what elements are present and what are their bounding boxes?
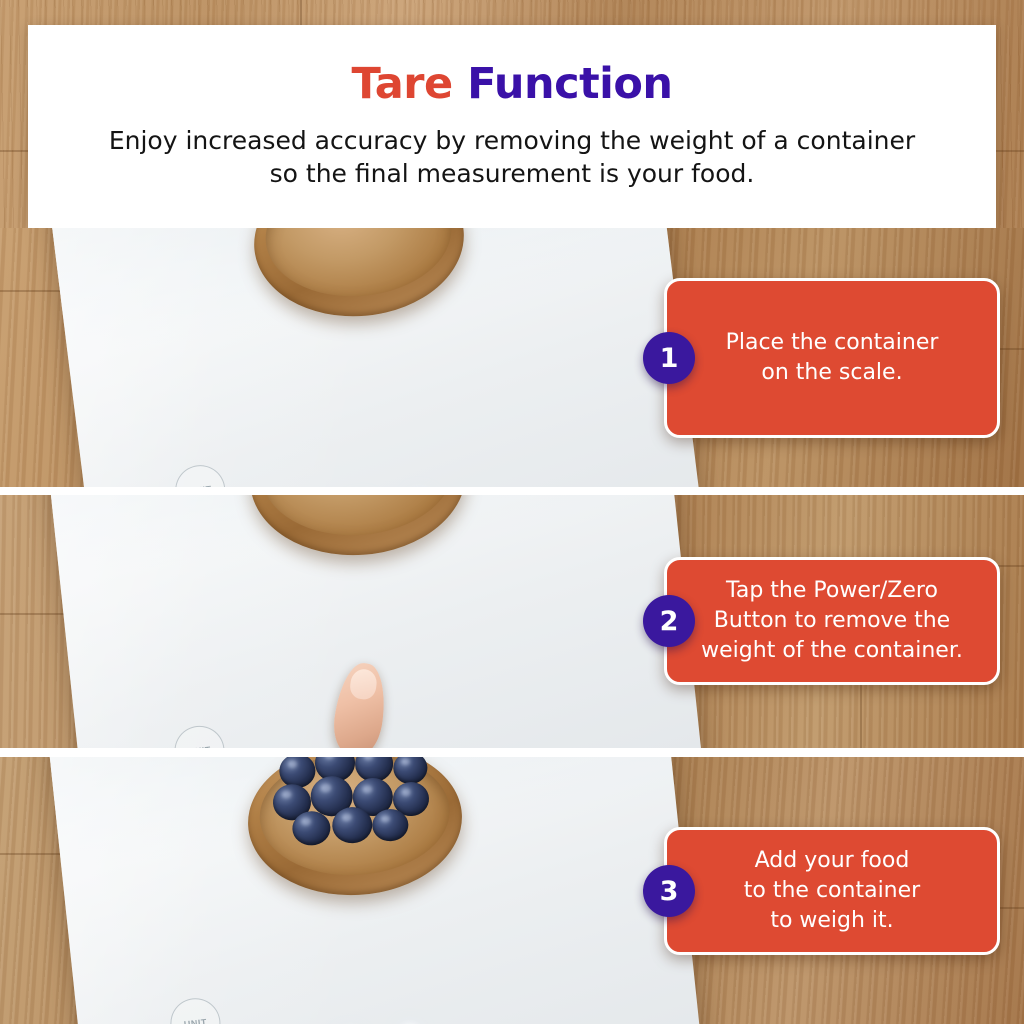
step-panel-3: UNIT 9.0 Max 10kg 0-1g ⏻ ZERO HOLD Add y… — [0, 757, 1024, 1024]
step-2-badge: 2 — [643, 595, 695, 647]
header-card: Tare Function Enjoy increased accuracy b… — [28, 25, 996, 228]
step-3-line-2: to the container — [744, 876, 920, 906]
step-1-line-1: Place the container — [726, 328, 939, 358]
step-2-line-3: weight of the container. — [701, 636, 963, 666]
step-1-badge: 1 — [643, 332, 695, 384]
page-title: Tare Function — [351, 59, 672, 109]
step-2-callout: Tap the Power/Zero Button to remove the … — [664, 557, 1000, 685]
step-panel-2: UNIT .0 Max 10kg 0-1g HOLD Tap the Power… — [0, 495, 1024, 748]
header-subtitle: Enjoy increased accuracy by removing the… — [109, 125, 915, 190]
header-subtitle-line-2: so the final measurement is your food. — [109, 158, 915, 191]
step-2-line-2: Button to remove the — [701, 606, 963, 636]
step-1-text: Place the container on the scale. — [700, 328, 965, 388]
step-3-text: Add your food to the container to weigh … — [718, 846, 946, 936]
step-3-line-1: Add your food — [744, 846, 920, 876]
unit-button-label-3: UNIT — [183, 1017, 207, 1024]
step-2-text: Tap the Power/Zero Button to remove the … — [675, 576, 989, 666]
step-3-line-3: to weigh it. — [744, 906, 920, 936]
page-title-word-function: Function — [467, 59, 672, 109]
panel-separator-1 — [0, 487, 1024, 495]
header-subtitle-line-1: Enjoy increased accuracy by removing the… — [109, 125, 915, 158]
step-2-line-1: Tap the Power/Zero — [701, 576, 963, 606]
step-1-callout: Place the container on the scale. — [664, 278, 1000, 438]
step-3-callout: Add your food to the container to weigh … — [664, 827, 1000, 955]
panel-separator-2 — [0, 748, 1024, 757]
page-title-word-tare: Tare — [351, 59, 452, 109]
step-3-badge: 3 — [643, 865, 695, 917]
step-1-line-2: on the scale. — [726, 358, 939, 388]
step-panel-1: UNIT 7.0 Max 10kg 0-1g ⏻ ZERO HOLD Place… — [0, 228, 1024, 487]
